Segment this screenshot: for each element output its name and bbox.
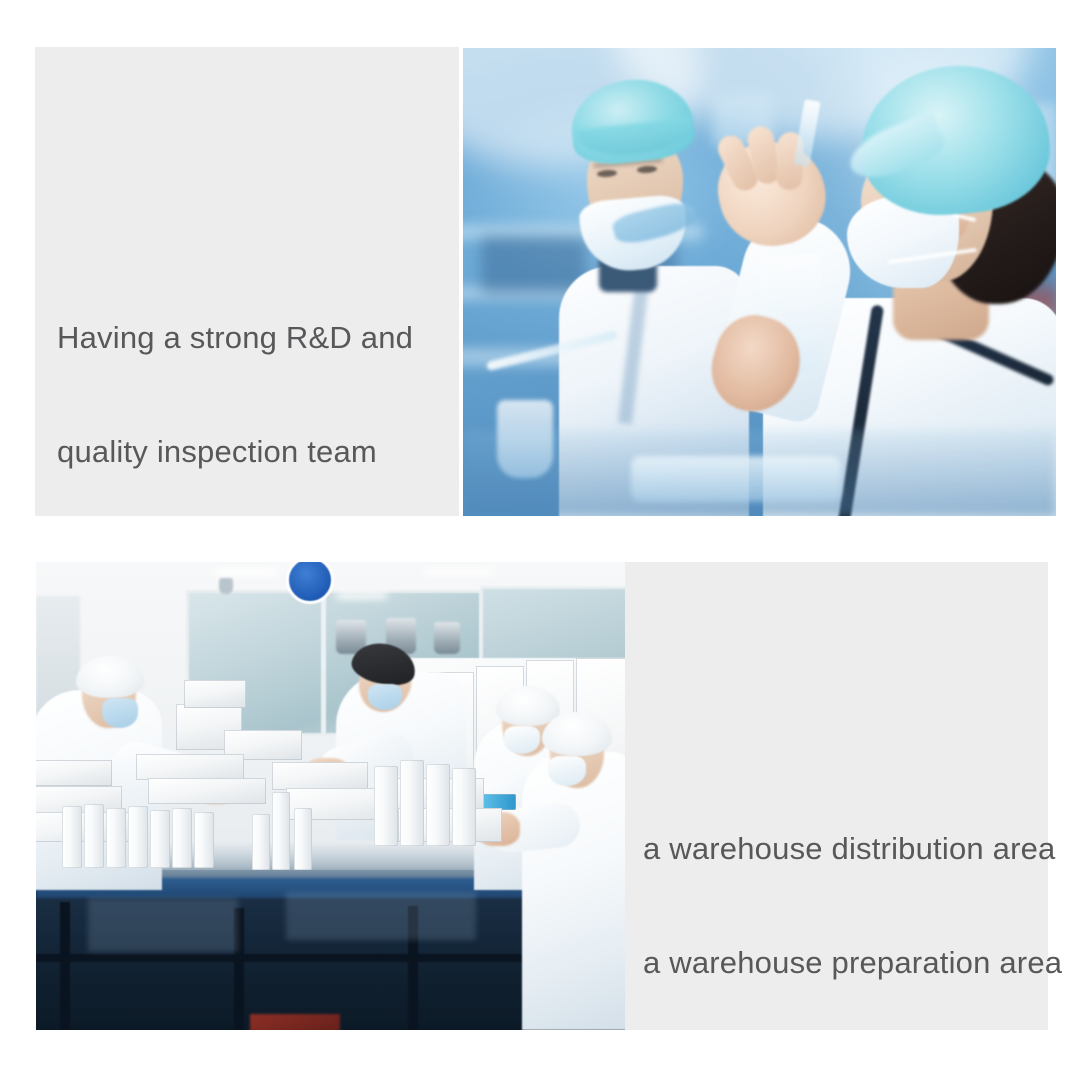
table-box-2 — [184, 680, 246, 708]
rnd-caption: Having a strong R&D and quality inspecti… — [57, 243, 413, 547]
upright-carton-11 — [374, 766, 398, 846]
table-box-6 — [272, 762, 368, 790]
warehouse-packing-photo — [36, 562, 625, 1030]
warehouse-caption-line-1: a warehouse distribution area — [643, 830, 1062, 868]
worker-4-face-mask — [548, 756, 586, 786]
upright-carton-1 — [62, 806, 82, 868]
worker-4-coat — [522, 752, 625, 1030]
floor-reflection-1 — [88, 898, 238, 952]
upright-carton-3 — [106, 808, 126, 868]
table-box-5 — [148, 778, 266, 804]
warehouse-scene — [36, 562, 625, 1030]
promo-collage: Having a strong R&D and quality inspecti… — [0, 0, 1080, 1080]
ceiling-light-1 — [214, 568, 278, 576]
worker-1-face-mask — [102, 698, 138, 728]
upright-carton-4 — [128, 806, 148, 868]
upright-carton-6 — [172, 808, 192, 868]
upright-carton-9 — [272, 792, 290, 870]
upright-carton-14 — [452, 768, 476, 846]
rnd-caption-line-2: quality inspection team — [57, 433, 413, 471]
table-leg-1 — [60, 902, 70, 1030]
warehouse-caption: a warehouse distribution area a warehous… — [643, 754, 1062, 1058]
lab-flask — [497, 400, 553, 478]
worker-2-face-mask — [368, 684, 402, 710]
ceiling-light-3 — [424, 568, 494, 575]
upright-carton-12 — [400, 760, 424, 846]
upright-carton-7 — [194, 812, 214, 868]
upright-carton-5 — [150, 810, 170, 868]
upright-carton-13 — [426, 764, 450, 846]
lab-scene — [463, 48, 1056, 516]
rnd-caption-line-1: Having a strong R&D and — [57, 319, 413, 357]
ceiling-light-2 — [336, 592, 388, 599]
table-box-4 — [136, 754, 244, 780]
table-box-10 — [36, 760, 112, 786]
upright-carton-10 — [294, 808, 312, 870]
wall-clock-icon — [219, 578, 233, 594]
upright-carton-2 — [84, 804, 104, 868]
lab-tray — [631, 456, 841, 502]
warehouse-caption-line-2: a warehouse preparation area — [643, 944, 1062, 982]
worker-3-face-mask — [504, 726, 540, 754]
floor-reflection-2 — [286, 892, 476, 940]
steel-pot-3 — [434, 622, 460, 654]
lab-inspection-photo — [463, 48, 1056, 516]
upright-carton-8 — [252, 814, 270, 870]
floor-marking — [250, 1014, 340, 1030]
